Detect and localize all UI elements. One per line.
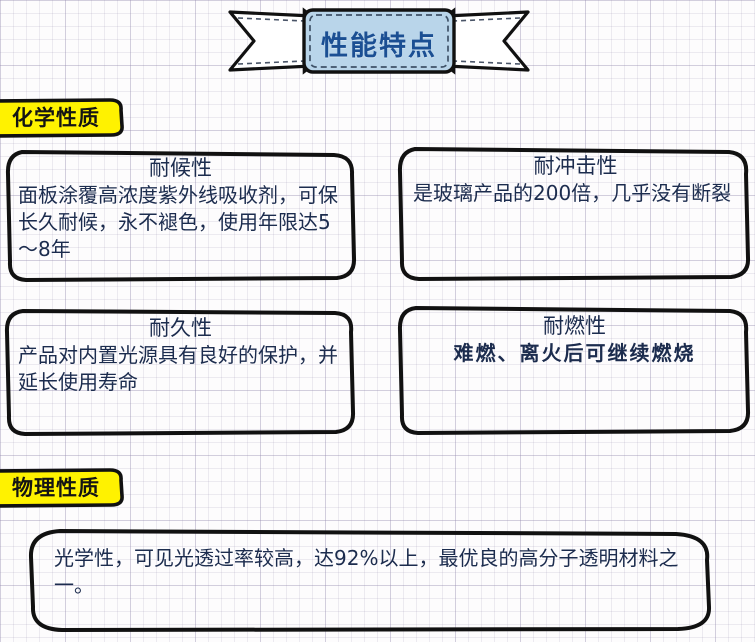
card-optical-property: 光学性，可见光透过率较高，达92%以上，最优良的高分子透明材料之一。 [26, 527, 714, 632]
card-flame-resistance: 耐燃性 难燃、离火后可继续燃烧 [395, 305, 751, 435]
card-durability-text: 产品对内置光源具有良好的保护，并延长使用寿命 [18, 342, 343, 395]
card-impact-heading: 耐冲击性 [413, 154, 738, 178]
card-weather-text: 面板涂覆高浓度紫外线吸收剂，可保长久耐候，永不褪色，使用年限达5～8年 [18, 182, 343, 262]
card-flame-text: 难燃、离火后可继续燃烧 [411, 340, 738, 367]
card-optical-text: 光学性，可见光透过率较高，达92%以上，最优良的高分子透明材料之一。 [54, 545, 688, 599]
card-flame-heading: 耐燃性 [411, 314, 738, 338]
card-weather-heading: 耐候性 [18, 156, 343, 180]
section-label-chemical-text: 化学性质 [0, 98, 100, 136]
card-optical-body: 光学性，可见光透过率较高，达92%以上，最优良的高分子透明材料之一。 [26, 527, 714, 599]
card-durability: 耐久性 产品对内置光源具有良好的保护，并延长使用寿命 [4, 307, 356, 437]
title-ribbon-banner: 性能特点 [224, 2, 534, 80]
card-flame-body: 耐燃性 难燃、离火后可继续燃烧 [395, 305, 751, 367]
card-weather-body: 耐候性 面板涂覆高浓度紫外线吸收剂，可保长久耐候，永不褪色，使用年限达5～8年 [4, 148, 356, 262]
card-weather-resistance: 耐候性 面板涂覆高浓度紫外线吸收剂，可保长久耐候，永不褪色，使用年限达5～8年 [4, 148, 356, 284]
card-impact-text: 是玻璃产品的200倍，几乎没有断裂 [413, 180, 738, 207]
section-label-physical: 物理性质 [0, 468, 130, 506]
card-impact-body: 耐冲击性 是玻璃产品的200倍，几乎没有断裂 [395, 146, 751, 207]
card-durability-heading: 耐久性 [18, 316, 343, 340]
section-label-chemical: 化学性质 [0, 98, 130, 136]
card-impact-resistance: 耐冲击性 是玻璃产品的200倍，几乎没有断裂 [395, 146, 751, 282]
section-label-physical-text: 物理性质 [0, 468, 100, 506]
banner-title-text: 性能特点 [224, 2, 534, 80]
card-durability-body: 耐久性 产品对内置光源具有良好的保护，并延长使用寿命 [4, 307, 356, 396]
